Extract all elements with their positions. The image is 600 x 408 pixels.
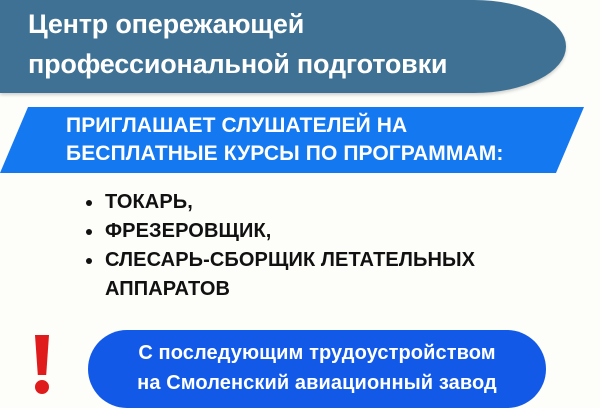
- list-item: СЛЕСАРЬ-СБОРЩИК ЛЕТАТЕЛЬНЫХ АППАРАТОВ: [78, 246, 578, 304]
- courses-list: ТОКАРЬ, ФРЕЗЕРОВЩИК, СЛЕСАРЬ-СБОРЩИК ЛЕТ…: [78, 188, 578, 304]
- employment-text: С последующим трудоустройством на Смолен…: [108, 338, 526, 398]
- employment-pill: С последующим трудоустройством на Смолен…: [88, 330, 546, 408]
- employment-note: С последующим трудоустройством на Смолен…: [0, 328, 600, 400]
- exclamation-mark-icon: [33, 335, 51, 397]
- invitation-banner-text: ПРИГЛАШАЕТ СЛУШАТЕЛЕЙ НА БЕСПЛАТНЫЕ КУРС…: [66, 112, 566, 168]
- poster-canvas: Центр опережающей профессиональной подго…: [0, 0, 600, 400]
- list-item: ТОКАРЬ,: [78, 188, 578, 217]
- exclamation-dot: [35, 380, 49, 394]
- list-item: ФРЕЗЕРОВЩИК,: [78, 217, 578, 246]
- exclamation-bar: [35, 335, 49, 375]
- page-title: Центр опережающей профессиональной подго…: [28, 4, 538, 84]
- invitation-banner: ПРИГЛАШАЕТ СЛУШАТЕЛЕЙ НА БЕСПЛАТНЫЕ КУРС…: [0, 107, 600, 173]
